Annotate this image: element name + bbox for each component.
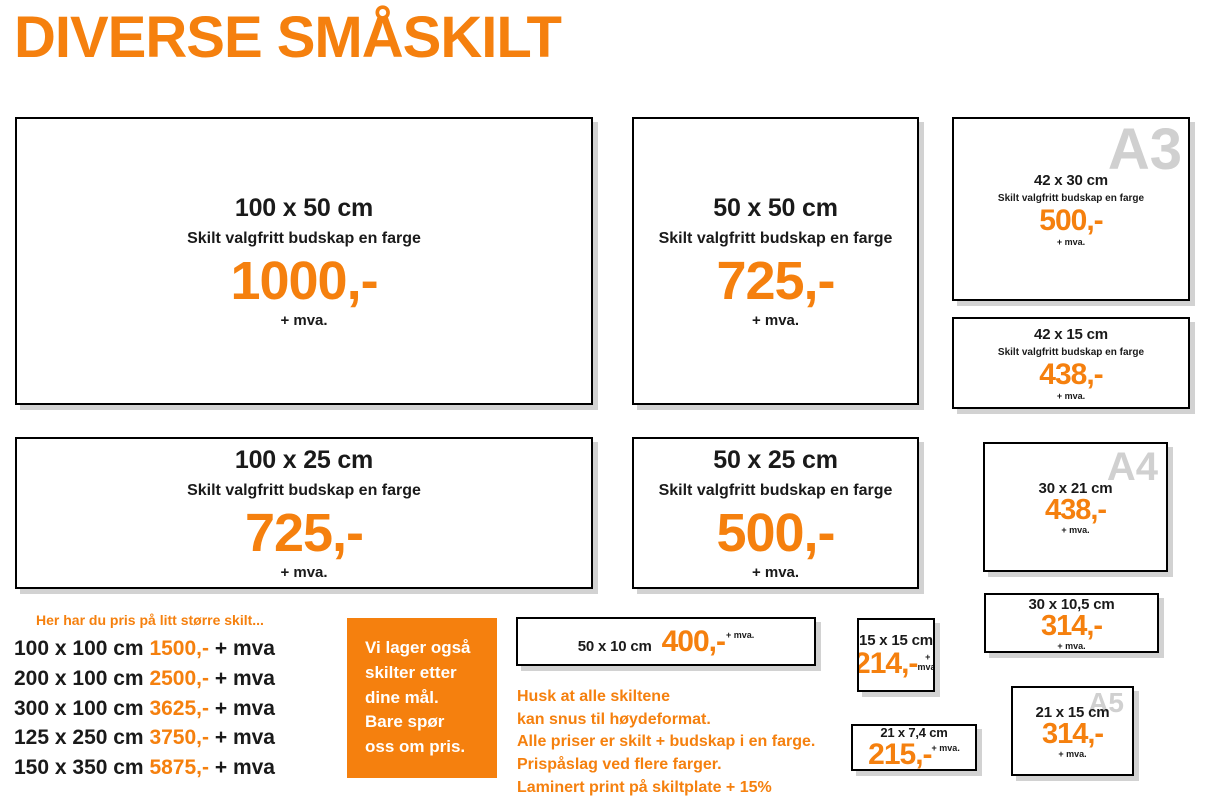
card-description: Skilt valgfritt budskap en farge (998, 193, 1144, 204)
card-dimension: 50 x 50 cm (713, 194, 838, 223)
card-inner: 21 x 7,4 cm 215,- + mva. (853, 726, 975, 769)
card-price: 725,- (245, 506, 363, 560)
pricelist-row: 200 x 100 cm 2500,- + mva (14, 664, 275, 694)
custom-size-block[interactable]: Vi lager også skilter etter dine mål. Ba… (347, 618, 497, 778)
card-description: Skilt valgfritt budskap en farge (187, 482, 421, 500)
note-line: Husk at alle skiltene (517, 686, 815, 709)
pricelist-row: 100 x 100 cm 1500,- + mva (14, 634, 275, 664)
pricelist-row: 300 x 100 cm 3625,- + mva (14, 694, 275, 724)
card-price: 438,- (1039, 360, 1102, 390)
format-watermark-a3: A3 (1108, 121, 1182, 179)
card-inner: 100 x 50 cm Skilt valgfritt budskap en f… (17, 119, 591, 403)
card-inner: 50 x 25 cm Skilt valgfritt budskap en fa… (634, 439, 917, 587)
sign-card-42x15[interactable]: 42 x 15 cm Skilt valgfritt budskap en fa… (952, 317, 1190, 409)
sign-card-100x50[interactable]: 100 x 50 cm Skilt valgfritt budskap en f… (15, 117, 593, 405)
card-vat-note: + mva. (726, 630, 754, 640)
pricelist-row: 150 x 350 cm 5875,- + mva (14, 753, 275, 783)
pricelist-heading: Her har du pris på litt større skilt... (36, 612, 275, 628)
card-description: Skilt valgfritt budskap en farge (187, 230, 421, 248)
note-line: Laminert print på skiltplate + 15% (517, 777, 815, 800)
sign-card-50x50[interactable]: 50 x 50 cm Skilt valgfritt budskap en fa… (632, 117, 919, 405)
pricelist-suffix: + mva (215, 667, 275, 690)
card-dimension: 100 x 50 cm (235, 194, 373, 223)
pricelist-suffix: + mva (215, 726, 275, 749)
sign-card-50x25[interactable]: 50 x 25 cm Skilt valgfritt budskap en fa… (632, 437, 919, 589)
custom-size-text: Vi lager også skilter etter dine mål. Ba… (347, 636, 471, 759)
card-price: 400,- (662, 627, 725, 657)
card-price: 725,- (716, 254, 834, 308)
card-vat-note: + mva. (1061, 525, 1089, 535)
page-title: DIVERSE SMÅSKILT (14, 8, 561, 69)
card-price: 314,- (1042, 720, 1103, 749)
pricelist-size: 300 x 100 cm (14, 697, 144, 720)
card-inner: 50 x 10 cm 400,- + mva. (518, 619, 814, 664)
sign-card-21x7-4[interactable]: 21 x 7,4 cm 215,- + mva. (851, 724, 977, 771)
card-dimension: 42 x 15 cm (1034, 326, 1108, 343)
pricelist-row: 125 x 250 cm 3750,- + mva (14, 723, 275, 753)
note-line: Alle priser er skilt + budskap i en farg… (517, 731, 815, 754)
card-vat-note: + mva. (280, 312, 327, 329)
pricelist-amount: 1500,- (149, 637, 209, 660)
card-inner: 42 x 15 cm Skilt valgfritt budskap en fa… (954, 319, 1188, 407)
card-inner: 50 x 50 cm Skilt valgfritt budskap en fa… (634, 119, 917, 403)
card-description: Skilt valgfritt budskap en farge (659, 230, 893, 248)
card-vat-note: + mva. (1057, 237, 1085, 247)
sign-card-21x15-a5[interactable]: A5 21 x 15 cm 314,- + mva. (1011, 686, 1134, 776)
card-description: Skilt valgfritt budskap en farge (998, 347, 1144, 358)
card-vat-note: + mva. (1057, 641, 1085, 651)
card-dimension: 42 x 30 cm (1034, 172, 1108, 189)
card-inline-row: 215,- + mva. (868, 740, 960, 770)
pricelist-amount: 3750,- (149, 726, 209, 749)
poster-root: DIVERSE SMÅSKILT 100 x 50 cm Skilt valgf… (0, 0, 1209, 812)
card-price: 438,- (1045, 496, 1106, 525)
card-inner: A3 42 x 30 cm Skilt valgfritt budskap en… (954, 119, 1188, 299)
card-vat-note: + mva. (280, 564, 327, 581)
pricelist-size: 200 x 100 cm (14, 667, 144, 690)
pricelist-amount: 5875,- (149, 756, 209, 779)
card-description: Skilt valgfritt budskap en farge (659, 482, 893, 500)
terms-notes: Husk at alle skiltene kan snus til høyde… (517, 686, 815, 800)
card-vat-note: + mva. (917, 652, 935, 672)
card-inline-row: 214,- + mva. (857, 649, 935, 679)
card-inner: 15 x 15 cm 214,- + mva. (859, 620, 933, 690)
card-inline-row: 50 x 10 cm 400,- + mva. (578, 627, 755, 657)
card-vat-note: + mva. (1057, 391, 1085, 401)
card-price: 214,- (857, 649, 917, 679)
card-vat-note: + mva. (1058, 749, 1086, 759)
sign-card-30x21-a4[interactable]: A4 30 x 21 cm 438,- + mva. (983, 442, 1168, 572)
sign-card-30x10-5[interactable]: 30 x 10,5 cm 314,- + mva. (984, 593, 1159, 653)
pricelist-size: 125 x 250 cm (14, 726, 144, 749)
card-price: 500,- (716, 506, 834, 560)
larger-signs-pricelist: Her har du pris på litt større skilt... … (14, 612, 275, 783)
card-vat-note: + mva. (752, 564, 799, 581)
pricelist-size: 150 x 350 cm (14, 756, 144, 779)
note-line: Prispåslag ved flere farger. (517, 754, 815, 777)
card-inner: A4 30 x 21 cm 438,- + mva. (985, 444, 1166, 570)
pricelist-suffix: + mva (215, 697, 275, 720)
pricelist-amount: 2500,- (149, 667, 209, 690)
pricelist-suffix: + mva (215, 756, 275, 779)
card-price: 1000,- (230, 254, 377, 308)
note-line: kan snus til høydeformat. (517, 709, 815, 732)
card-dimension: 50 x 10 cm (578, 638, 652, 655)
card-price: 500,- (1039, 206, 1102, 236)
card-vat-note: + mva. (932, 743, 960, 753)
sign-card-42x30-a3[interactable]: A3 42 x 30 cm Skilt valgfritt budskap en… (952, 117, 1190, 301)
pricelist-amount: 3625,- (149, 697, 209, 720)
sign-card-15x15[interactable]: 15 x 15 cm 214,- + mva. (857, 618, 935, 692)
card-dimension: 15 x 15 cm (859, 632, 933, 649)
format-watermark-a4: A4 (1107, 447, 1158, 487)
card-dimension: 100 x 25 cm (235, 446, 373, 475)
card-dimension: 50 x 25 cm (713, 446, 838, 475)
card-price: 215,- (868, 740, 931, 770)
card-price: 314,- (1041, 612, 1102, 641)
sign-card-100x25[interactable]: 100 x 25 cm Skilt valgfritt budskap en f… (15, 437, 593, 589)
pricelist-size: 100 x 100 cm (14, 637, 144, 660)
card-vat-note: + mva. (752, 312, 799, 329)
card-inner: A5 21 x 15 cm 314,- + mva. (1013, 688, 1132, 774)
card-inner: 100 x 25 cm Skilt valgfritt budskap en f… (17, 439, 591, 587)
card-inner: 30 x 10,5 cm 314,- + mva. (986, 595, 1157, 651)
sign-card-50x10[interactable]: 50 x 10 cm 400,- + mva. (516, 617, 816, 666)
pricelist-suffix: + mva (215, 637, 275, 660)
